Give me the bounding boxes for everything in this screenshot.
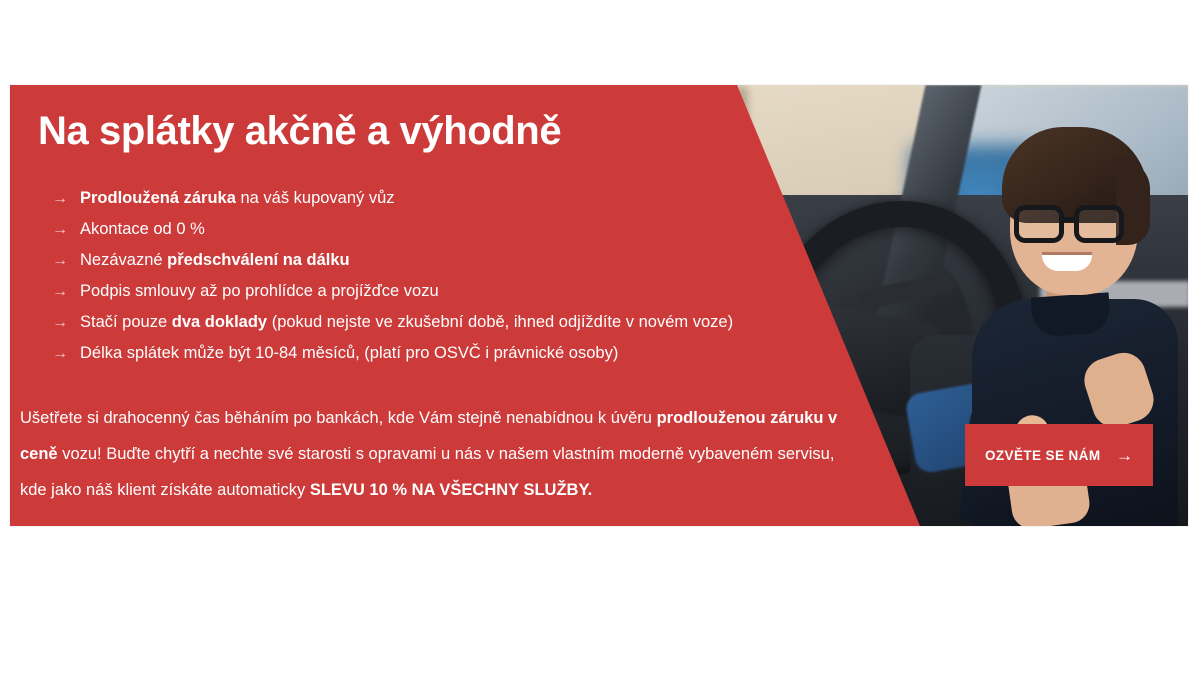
list-item: → Prodloužená záruka na váš kupovaný vůz bbox=[38, 183, 838, 214]
glasses-right-lens bbox=[1074, 205, 1124, 243]
list-item-text-tail: (pokud nejste ve zkušební době, ihned od… bbox=[267, 313, 733, 331]
list-item-bold-tail: předschválení na dálku bbox=[167, 251, 349, 269]
list-item: → Nezávazné předschválení na dálku bbox=[38, 245, 838, 276]
banner-content: Na splátky akčně a výhodně → Prodloužená… bbox=[10, 85, 930, 526]
list-item: → Podpis smlouvy až po prohlídce a projí… bbox=[38, 276, 838, 307]
promo-paragraph: Ušetřete si drahocenný čas běháním po ba… bbox=[20, 400, 840, 508]
paragraph-bold-2: SLEVU 10 % NA VŠECHNY SLUŽBY. bbox=[310, 481, 592, 499]
glasses-icon bbox=[1012, 205, 1140, 245]
list-item-bold-tail: dva doklady bbox=[172, 313, 267, 331]
arrow-right-icon: → bbox=[52, 214, 68, 245]
promo-banner: Na splátky akčně a výhodně → Prodloužená… bbox=[10, 85, 1188, 526]
arrow-right-icon: → bbox=[52, 183, 68, 214]
list-item-text: Stačí pouze bbox=[80, 313, 172, 331]
list-item-text: Akontace od 0 % bbox=[80, 220, 205, 238]
arrow-right-icon: → bbox=[52, 338, 68, 369]
arrow-right-icon: → bbox=[52, 245, 68, 276]
list-item-text: Podpis smlouvy až po prohlídce a projížď… bbox=[80, 282, 439, 300]
glasses-left-lens bbox=[1014, 205, 1064, 243]
arrow-right-icon: → bbox=[52, 307, 68, 338]
paragraph-part-1: Ušetřete si drahocenný čas běháním po ba… bbox=[20, 409, 657, 427]
page-root: Na splátky akčně a výhodně → Prodloužená… bbox=[0, 0, 1200, 678]
arrow-right-icon: → bbox=[52, 276, 68, 307]
list-item: → Akontace od 0 % bbox=[38, 214, 838, 245]
arrow-right-icon: → bbox=[1116, 447, 1133, 464]
list-item-bold-lead: Prodloužená záruka bbox=[80, 189, 236, 207]
list-item-text: na váš kupovaný vůz bbox=[236, 189, 395, 207]
list-item: → Délka splátek může být 10-84 měsíců, (… bbox=[38, 338, 838, 369]
benefits-list: → Prodloužená záruka na váš kupovaný vůz… bbox=[38, 183, 838, 369]
list-item-text: Nezávazné bbox=[80, 251, 167, 269]
list-item: → Stačí pouze dva doklady (pokud nejste … bbox=[38, 307, 838, 338]
contact-us-button-label: OZVĚTE SE NÁM bbox=[985, 448, 1100, 463]
list-item-text: Délka splátek může být 10-84 měsíců, (pl… bbox=[80, 344, 618, 362]
contact-us-button[interactable]: OZVĚTE SE NÁM → bbox=[965, 424, 1153, 486]
page-title: Na splátky akčně a výhodně bbox=[38, 109, 561, 154]
